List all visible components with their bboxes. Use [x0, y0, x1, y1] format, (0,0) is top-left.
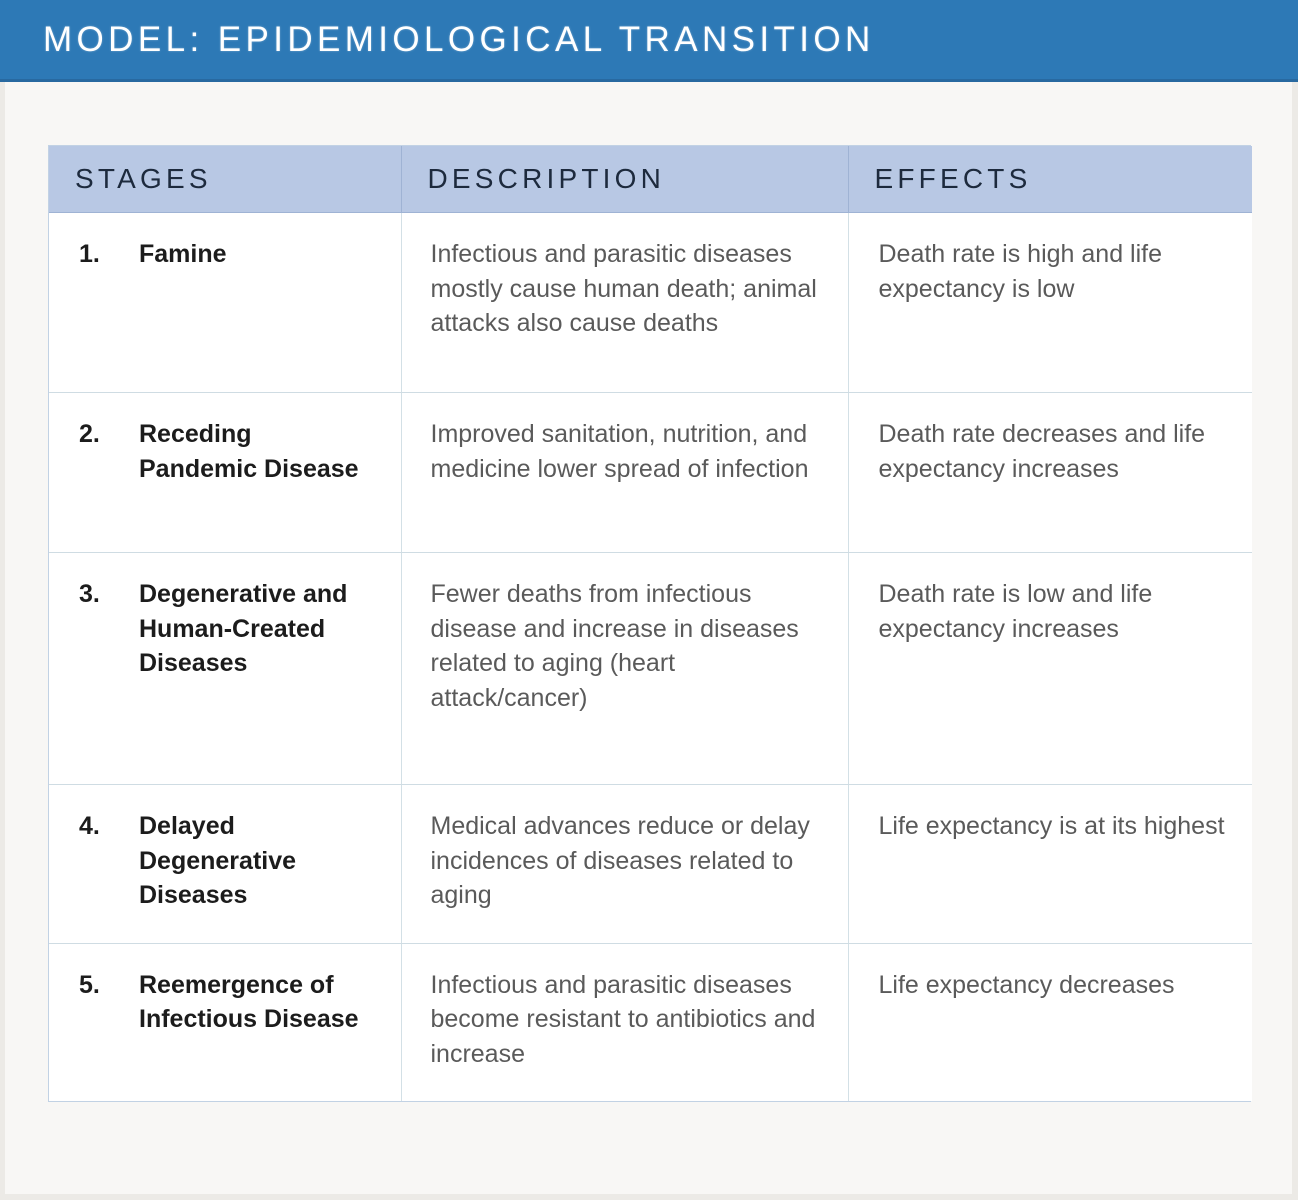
- effects-cell: Life expectancy decreases: [848, 943, 1252, 1101]
- table-body: 1. Famine Infectious and parasitic disea…: [49, 213, 1252, 1102]
- table-row: 5. Reemergence of Infectious Disease Inf…: [49, 943, 1252, 1101]
- effects-cell: Death rate is low and life expectancy in…: [848, 553, 1252, 785]
- description-cell: Infectious and parasitic diseases mostly…: [401, 213, 848, 393]
- effects-cell: Life expectancy is at its highest: [848, 785, 1252, 944]
- description-cell: Fewer deaths from infectious disease and…: [401, 553, 848, 785]
- title-bar: MODEL: EPIDEMIOLOGICAL TRANSITION: [0, 0, 1298, 82]
- table-header: STAGES DESCRIPTION EFFECTS: [49, 146, 1252, 213]
- description-cell: Improved sanitation, nutrition, and medi…: [401, 393, 848, 553]
- stage-cell: 4. Delayed Degenerative Diseases: [49, 785, 401, 944]
- column-header-effects: EFFECTS: [848, 146, 1252, 213]
- stage-number: 4.: [79, 809, 139, 844]
- stage-number: 1.: [79, 237, 139, 272]
- stage-cell: 3. Degenerative and Human-Created Diseas…: [49, 553, 401, 785]
- stage-cell: 1. Famine: [49, 213, 401, 393]
- stage-name: Famine: [139, 237, 227, 272]
- stage-name: Delayed Degenerative Diseases: [139, 809, 377, 913]
- table-row: 1. Famine Infectious and parasitic disea…: [49, 213, 1252, 393]
- epidemiological-transition-table: STAGES DESCRIPTION EFFECTS 1. Famine Inf…: [49, 146, 1252, 1101]
- table-row: 3. Degenerative and Human-Created Diseas…: [49, 553, 1252, 785]
- column-header-stages: STAGES: [49, 146, 401, 213]
- model-table-container: STAGES DESCRIPTION EFFECTS 1. Famine Inf…: [48, 145, 1251, 1102]
- stage-number: 3.: [79, 577, 139, 612]
- stage-cell: 2. Receding Pandemic Disease: [49, 393, 401, 553]
- effects-cell: Death rate decreases and life expectancy…: [848, 393, 1252, 553]
- description-cell: Infectious and parasitic diseases become…: [401, 943, 848, 1101]
- table-header-row: STAGES DESCRIPTION EFFECTS: [49, 146, 1252, 213]
- page-title: MODEL: EPIDEMIOLOGICAL TRANSITION: [43, 20, 875, 60]
- table-row: 2. Receding Pandemic Disease Improved sa…: [49, 393, 1252, 553]
- stage-name: Degenerative and Human-Created Diseases: [139, 577, 377, 681]
- stage-name: Reemergence of Infectious Disease: [139, 968, 377, 1037]
- effects-cell: Death rate is high and life expectancy i…: [848, 213, 1252, 393]
- table-row: 4. Delayed Degenerative Diseases Medical…: [49, 785, 1252, 944]
- page-container: MODEL: EPIDEMIOLOGICAL TRANSITION STAGES…: [0, 0, 1298, 1200]
- stage-name: Receding Pandemic Disease: [139, 417, 377, 486]
- stage-number: 2.: [79, 417, 139, 452]
- column-header-description: DESCRIPTION: [401, 146, 848, 213]
- stage-cell: 5. Reemergence of Infectious Disease: [49, 943, 401, 1101]
- stage-number: 5.: [79, 968, 139, 1003]
- description-cell: Medical advances reduce or delay inciden…: [401, 785, 848, 944]
